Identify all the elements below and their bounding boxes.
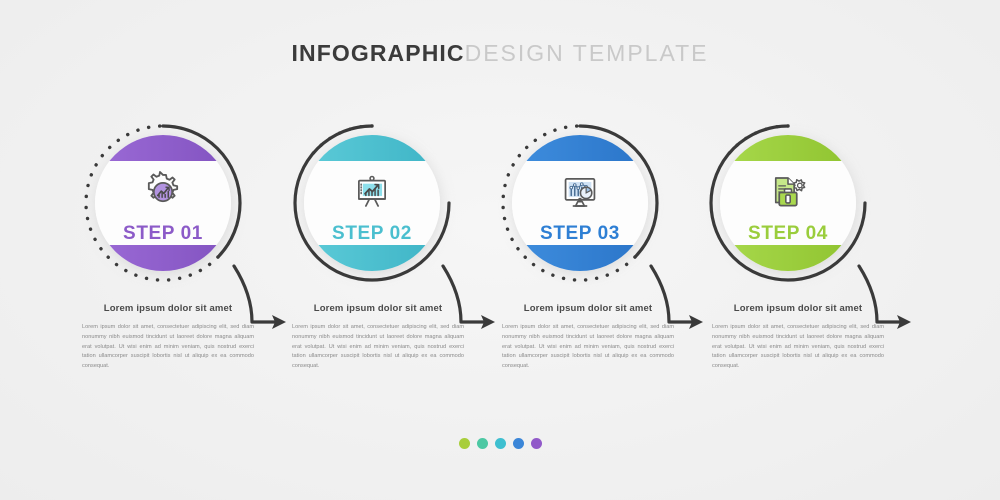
step-icon-1-wrap: [95, 169, 231, 215]
step-band-top: [512, 135, 648, 161]
document-briefcase-gear-icon: [767, 171, 809, 213]
gear-growth-chart-icon: [142, 171, 184, 213]
description-body: Lorem ipsum dolor sit amet, consectetuer…: [278, 323, 478, 372]
description-body: Lorem ipsum dolor sit amet, consectetuer…: [488, 323, 688, 372]
step-icon-3-wrap: [512, 169, 648, 215]
description-heading: Lorem ipsum dolor sit amet: [68, 303, 268, 314]
pagination-dots[interactable]: [0, 438, 1000, 449]
step-band-top: [720, 135, 856, 161]
presentation-board-chart-icon: [351, 171, 393, 213]
steps-row: STEP 01: [0, 118, 1000, 288]
step-icon-2-wrap: [304, 169, 440, 215]
page-title: INFOGRAPHICDESIGN TEMPLATE: [0, 40, 1000, 67]
description-heading: Lorem ipsum dolor sit amet: [488, 303, 688, 314]
description-body: Lorem ipsum dolor sit amet, consectetuer…: [68, 323, 268, 372]
description-heading: Lorem ipsum dolor sit amet: [698, 303, 898, 314]
pagination-dot-1[interactable]: [459, 438, 470, 449]
pagination-dot-4[interactable]: [513, 438, 524, 449]
title-light: DESIGN TEMPLATE: [465, 40, 709, 66]
infographic-canvas: INFOGRAPHICDESIGN TEMPLATE: [0, 0, 1000, 500]
pagination-dot-2[interactable]: [477, 438, 488, 449]
pagination-dot-3[interactable]: [495, 438, 506, 449]
step-band-top: [95, 135, 231, 161]
pagination-dot-5[interactable]: [531, 438, 542, 449]
monitor-dashboard-icon: [559, 171, 601, 213]
step-icon-4-wrap: [720, 169, 856, 215]
description-block-3: Lorem ipsum dolor sit amet Lorem ipsum d…: [488, 303, 688, 372]
description-block-2: Lorem ipsum dolor sit amet Lorem ipsum d…: [278, 303, 478, 372]
title-bold: INFOGRAPHIC: [292, 40, 465, 66]
step-band-top: [304, 135, 440, 161]
description-block-1: Lorem ipsum dolor sit amet Lorem ipsum d…: [68, 303, 268, 372]
description-heading: Lorem ipsum dolor sit amet: [278, 303, 478, 314]
description-block-4: Lorem ipsum dolor sit amet Lorem ipsum d…: [698, 303, 898, 372]
description-body: Lorem ipsum dolor sit amet, consectetuer…: [698, 323, 898, 372]
